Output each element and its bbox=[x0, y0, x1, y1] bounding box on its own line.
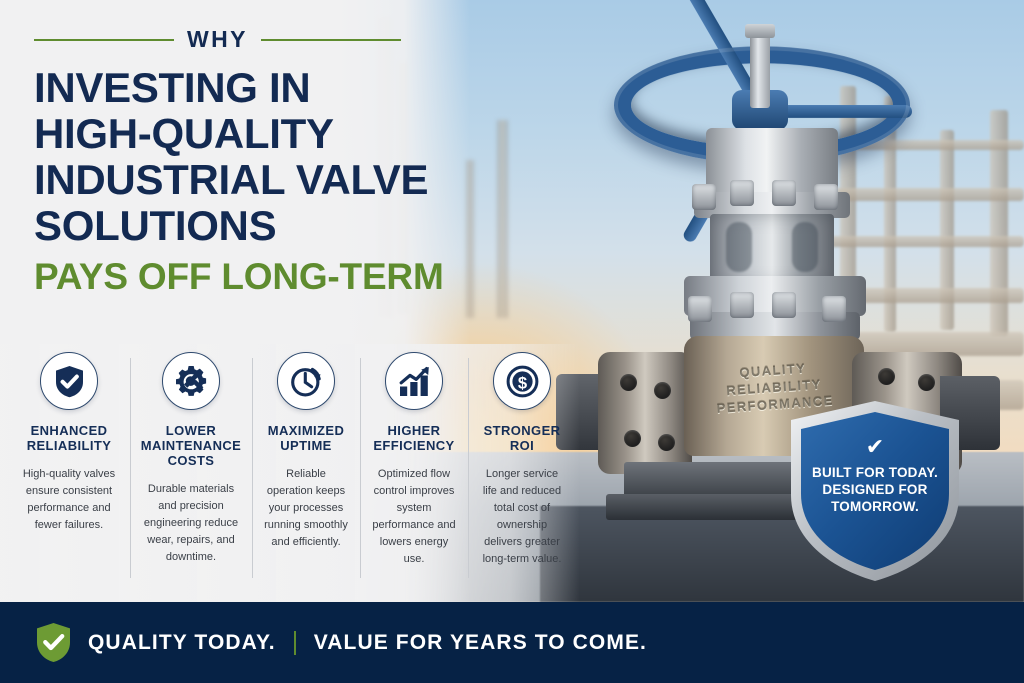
card-body: Durable materials and precision engineer… bbox=[140, 481, 242, 566]
footer-tagline: QUALITY TODAY. VALUE FOR YEARS TO COME. bbox=[88, 631, 647, 655]
card-body: Longer service life and reduced total co… bbox=[478, 466, 566, 568]
badge-line-1: BUILT FOR TODAY. bbox=[812, 464, 938, 481]
headline-line: INDUSTRIAL VALVE bbox=[34, 157, 464, 203]
flange-bolt-hole bbox=[918, 374, 935, 391]
headline-line: INVESTING IN bbox=[34, 65, 464, 111]
icon-badge: $ bbox=[493, 352, 551, 410]
benefit-card-enhanced-reliability[interactable]: ENHANCED RELIABILITY High-quality valves… bbox=[8, 352, 130, 592]
benefit-cards: ENHANCED RELIABILITY High-quality valves… bbox=[8, 352, 576, 592]
flange-bolt-hole bbox=[658, 434, 675, 451]
footer-bar: QUALITY TODAY. VALUE FOR YEARS TO COME. bbox=[0, 602, 1024, 683]
badge-line-2: DESIGNED FOR TOMORROW. bbox=[812, 481, 938, 515]
body-bolt bbox=[822, 296, 846, 322]
bonnet-bolt bbox=[772, 180, 796, 206]
footer-separator bbox=[294, 631, 296, 655]
flange-bolt-hole bbox=[620, 374, 637, 391]
card-body: Optimized flow control improves system p… bbox=[370, 466, 458, 568]
body-bolt bbox=[772, 292, 796, 318]
icon-badge bbox=[385, 352, 443, 410]
dollar-circle-icon: $ bbox=[506, 365, 539, 398]
badge-content: ✔ BUILT FOR TODAY. DESIGNED FOR TOMORROW… bbox=[786, 436, 964, 515]
headline-accent: PAYS OFF LONG-TERM bbox=[34, 255, 464, 299]
page-title: INVESTING IN HIGH-QUALITY INDUSTRIAL VAL… bbox=[34, 65, 464, 249]
footer-content: QUALITY TODAY. VALUE FOR YEARS TO COME. bbox=[0, 622, 647, 663]
divider-line-right bbox=[261, 39, 401, 41]
flange-bolt-hole bbox=[654, 382, 671, 399]
gear-wrench-icon bbox=[175, 365, 208, 398]
icon-badge bbox=[40, 352, 98, 410]
card-body: High-quality valves ensure consistent pe… bbox=[18, 466, 120, 534]
footer-right-text: VALUE FOR YEARS TO COME. bbox=[314, 631, 647, 655]
flange-bolt-hole bbox=[624, 430, 641, 447]
eyebrow-label: WHY bbox=[187, 26, 248, 53]
check-icon: ✔ bbox=[786, 436, 964, 458]
card-title: LOWER MAINTENANCE COSTS bbox=[140, 423, 242, 468]
refinery-tower bbox=[497, 120, 508, 318]
headline-line: SOLUTIONS bbox=[34, 203, 464, 249]
icon-badge bbox=[277, 352, 335, 410]
badge-text: BUILT FOR TODAY. DESIGNED FOR TOMORROW. bbox=[786, 464, 964, 515]
infographic-poster: QUALITY RELIABILITY PERFORMANCE WHY bbox=[0, 0, 1024, 683]
card-title: STRONGER ROI bbox=[478, 423, 566, 453]
benefit-card-higher-efficiency[interactable]: HIGHER EFFICIENCY Optimized flow control… bbox=[360, 352, 468, 592]
footer-left-text: QUALITY TODAY. bbox=[88, 631, 276, 655]
shield-check-icon bbox=[36, 622, 71, 663]
headline-block: WHY INVESTING IN HIGH-QUALITY INDUSTRIAL… bbox=[34, 26, 464, 299]
stem-nut bbox=[745, 24, 775, 38]
clock-arrow-icon bbox=[290, 365, 323, 398]
benefit-card-stronger-roi[interactable]: $ STRONGER ROI Longer service life and r… bbox=[468, 352, 576, 592]
flange-bolt-hole bbox=[878, 368, 895, 385]
headline-line: HIGH-QUALITY bbox=[34, 111, 464, 157]
bonnet-bolt bbox=[692, 184, 716, 210]
valve-stem bbox=[750, 30, 770, 108]
benefit-card-lower-maintenance-costs[interactable]: LOWER MAINTENANCE COSTS Durable material… bbox=[130, 352, 252, 592]
inlet-flange bbox=[598, 352, 692, 474]
svg-text:$: $ bbox=[517, 373, 526, 392]
body-bolt bbox=[688, 296, 712, 322]
card-title: HIGHER EFFICIENCY bbox=[370, 423, 458, 453]
card-title: ENHANCED RELIABILITY bbox=[18, 423, 120, 453]
bonnet-bolt bbox=[730, 180, 754, 206]
bar-chart-growth-icon bbox=[398, 366, 431, 397]
bonnet-bolt bbox=[814, 184, 838, 210]
eyebrow-row: WHY bbox=[34, 26, 464, 53]
card-title: MAXIMIZED UPTIME bbox=[262, 423, 350, 453]
benefit-card-maximized-uptime[interactable]: MAXIMIZED UPTIME Reliable operation keep… bbox=[252, 352, 360, 592]
shield-badge-built-for-today: ✔ BUILT FOR TODAY. DESIGNED FOR TOMORROW… bbox=[786, 398, 964, 584]
card-body: Reliable operation keeps your processes … bbox=[262, 466, 350, 551]
icon-badge bbox=[162, 352, 220, 410]
body-bolt bbox=[730, 292, 754, 318]
divider-line-left bbox=[34, 39, 174, 41]
shield-check-icon bbox=[54, 365, 85, 398]
